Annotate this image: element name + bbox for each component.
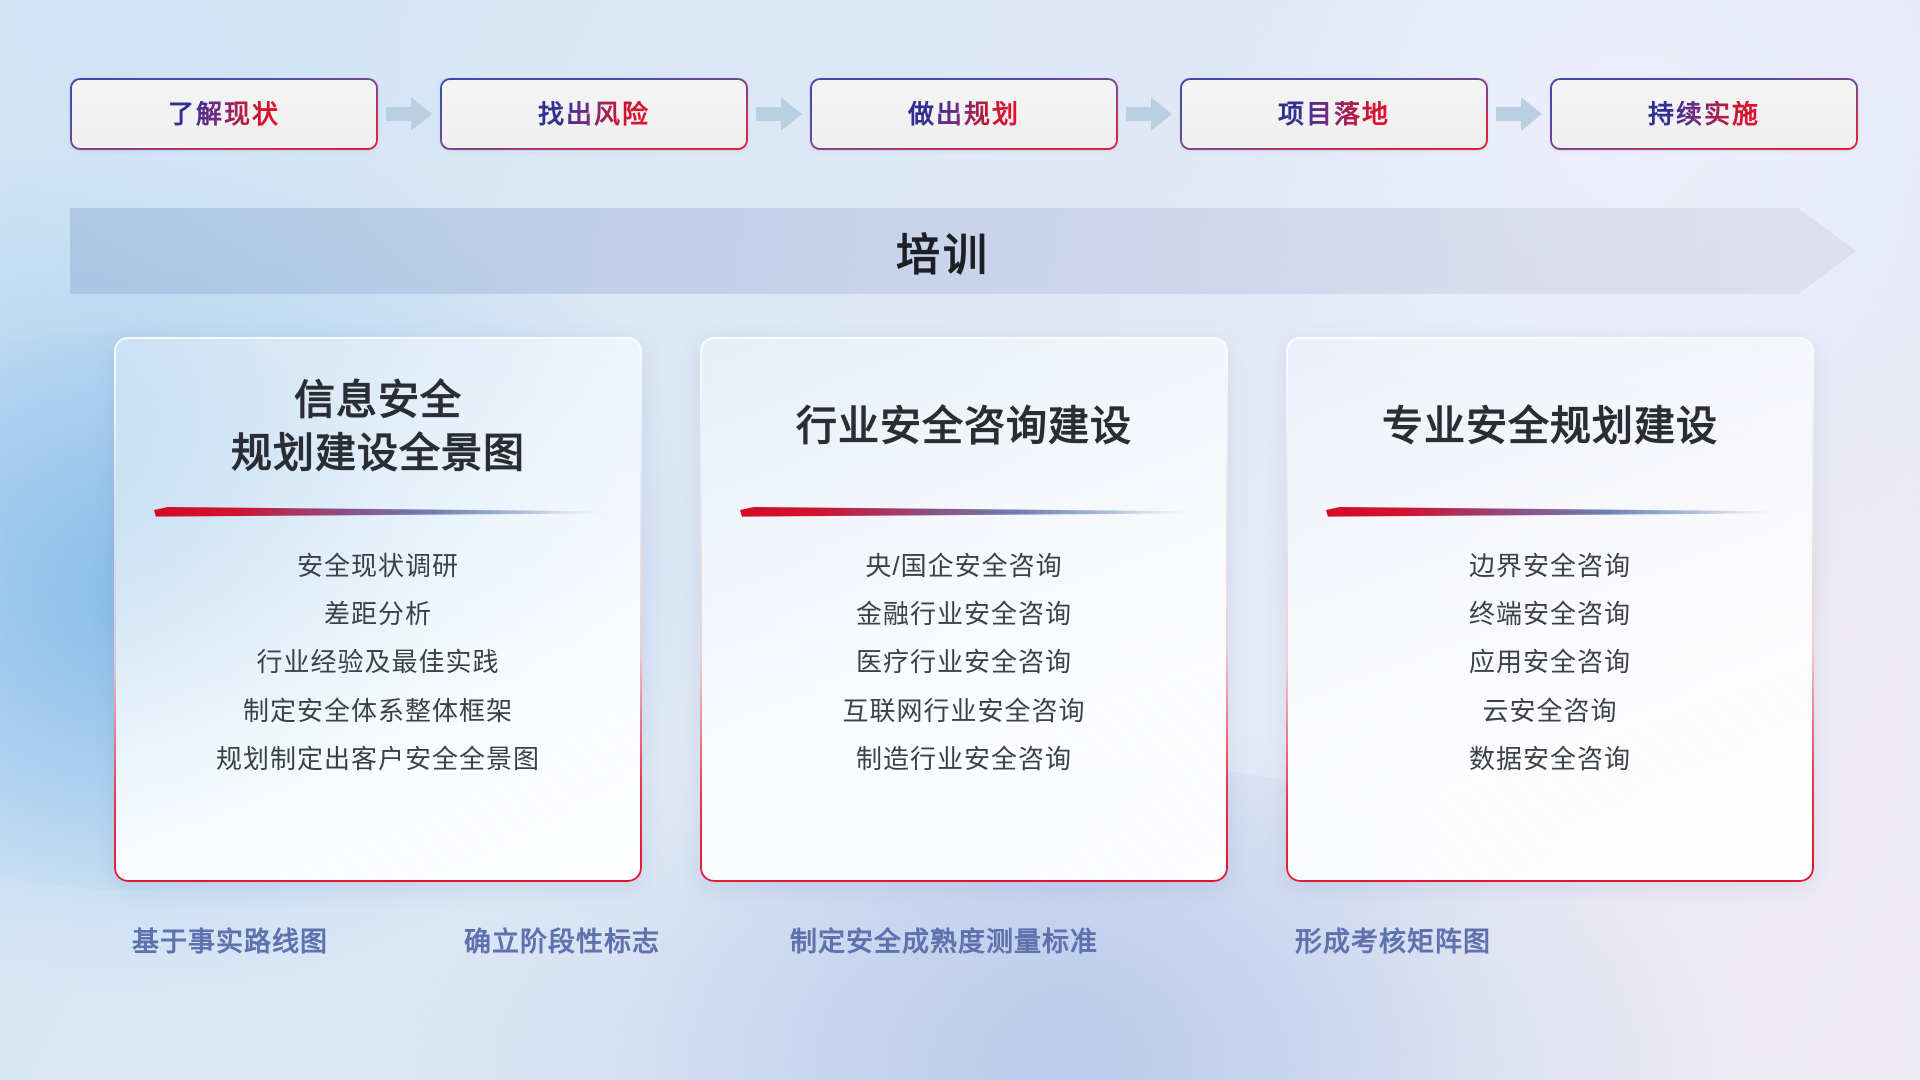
list-item: 应用安全咨询: [1469, 647, 1631, 678]
list-item: 数据安全咨询: [1469, 744, 1631, 775]
card-title: 专业安全规划建设: [1316, 373, 1784, 481]
process-step-label: 项目落地: [1278, 101, 1390, 127]
list-item: 央/国企安全咨询: [865, 551, 1062, 582]
content-card-3[interactable]: 专业安全规划建设 边界安全咨询 终端安全: [1286, 337, 1814, 882]
card-divider: [738, 507, 1190, 519]
list-item: 安全现状调研: [297, 551, 459, 582]
card-row: 信息安全 规划建设全景图 安全现状调研 差: [114, 337, 1814, 882]
process-step-label: 找出风险: [538, 101, 650, 127]
card-title-line-1: 专业安全规划建设: [1316, 400, 1784, 453]
list-item: 制造行业安全咨询: [856, 744, 1072, 775]
card-title: 信息安全 规划建设全景图: [144, 373, 612, 481]
arrow-right-icon: [378, 94, 440, 134]
training-banner: 培训: [70, 208, 1856, 294]
list-item: 金融行业安全咨询: [856, 599, 1072, 630]
card-divider: [152, 507, 604, 519]
list-item: 医疗行业安全咨询: [856, 647, 1072, 678]
list-item: 边界安全咨询: [1469, 551, 1631, 582]
process-step-label: 持续实施: [1648, 101, 1760, 127]
footer-caption-2: 确立阶段性标志: [464, 920, 660, 959]
list-item: 制定安全体系整体框架: [243, 696, 513, 727]
process-step-row: 了解现状 找出风险 做出规划 项目落地 持续实施: [70, 78, 1856, 150]
list-item: 云安全咨询: [1482, 696, 1617, 727]
card-title-line-1: 行业安全咨询建设: [730, 400, 1198, 453]
footer-caption-1: 基于事实路线图: [132, 920, 328, 959]
process-step-label: 做出规划: [908, 101, 1020, 127]
footer-caption-4: 形成考核矩阵图: [1295, 920, 1491, 959]
card-divider: [1324, 507, 1776, 519]
card-title-line-2: 规划建设全景图: [144, 427, 612, 480]
process-step-4[interactable]: 项目落地: [1180, 78, 1488, 150]
arrow-right-icon: [1118, 94, 1180, 134]
arrow-right-icon: [1488, 94, 1550, 134]
list-item: 差距分析: [324, 599, 432, 630]
list-item: 规划制定出客户安全全景图: [216, 744, 540, 775]
list-item: 终端安全咨询: [1469, 599, 1631, 630]
content-card-2[interactable]: 行业安全咨询建设 央/国企安全咨询 金融: [700, 337, 1228, 882]
list-item: 互联网行业安全咨询: [842, 696, 1085, 727]
process-step-label: 了解现状: [168, 101, 280, 127]
list-item: 行业经验及最佳实践: [256, 647, 499, 678]
footer-caption-3: 制定安全成熟度测量标准: [790, 920, 1098, 959]
arrow-right-icon: [748, 94, 810, 134]
card-item-list: 边界安全咨询 终端安全咨询 应用安全咨询 云安全咨询 数据安全咨询: [1316, 551, 1784, 775]
card-title-line-1: 信息安全: [144, 374, 612, 427]
content-card-1[interactable]: 信息安全 规划建设全景图 安全现状调研 差: [114, 337, 642, 882]
card-title: 行业安全咨询建设: [730, 373, 1198, 481]
footer-caption-row: 基于事实路线图 确立阶段性标志 制定安全成熟度测量标准 形成考核矩阵图: [0, 920, 1920, 966]
process-step-3[interactable]: 做出规划: [810, 78, 1118, 150]
banner-title: 培训: [70, 208, 1856, 294]
card-item-list: 央/国企安全咨询 金融行业安全咨询 医疗行业安全咨询 互联网行业安全咨询 制造行…: [730, 551, 1198, 775]
card-item-list: 安全现状调研 差距分析 行业经验及最佳实践 制定安全体系整体框架 规划制定出客户…: [144, 551, 612, 775]
process-step-2[interactable]: 找出风险: [440, 78, 748, 150]
process-step-1[interactable]: 了解现状: [70, 78, 378, 150]
process-step-5[interactable]: 持续实施: [1550, 78, 1858, 150]
